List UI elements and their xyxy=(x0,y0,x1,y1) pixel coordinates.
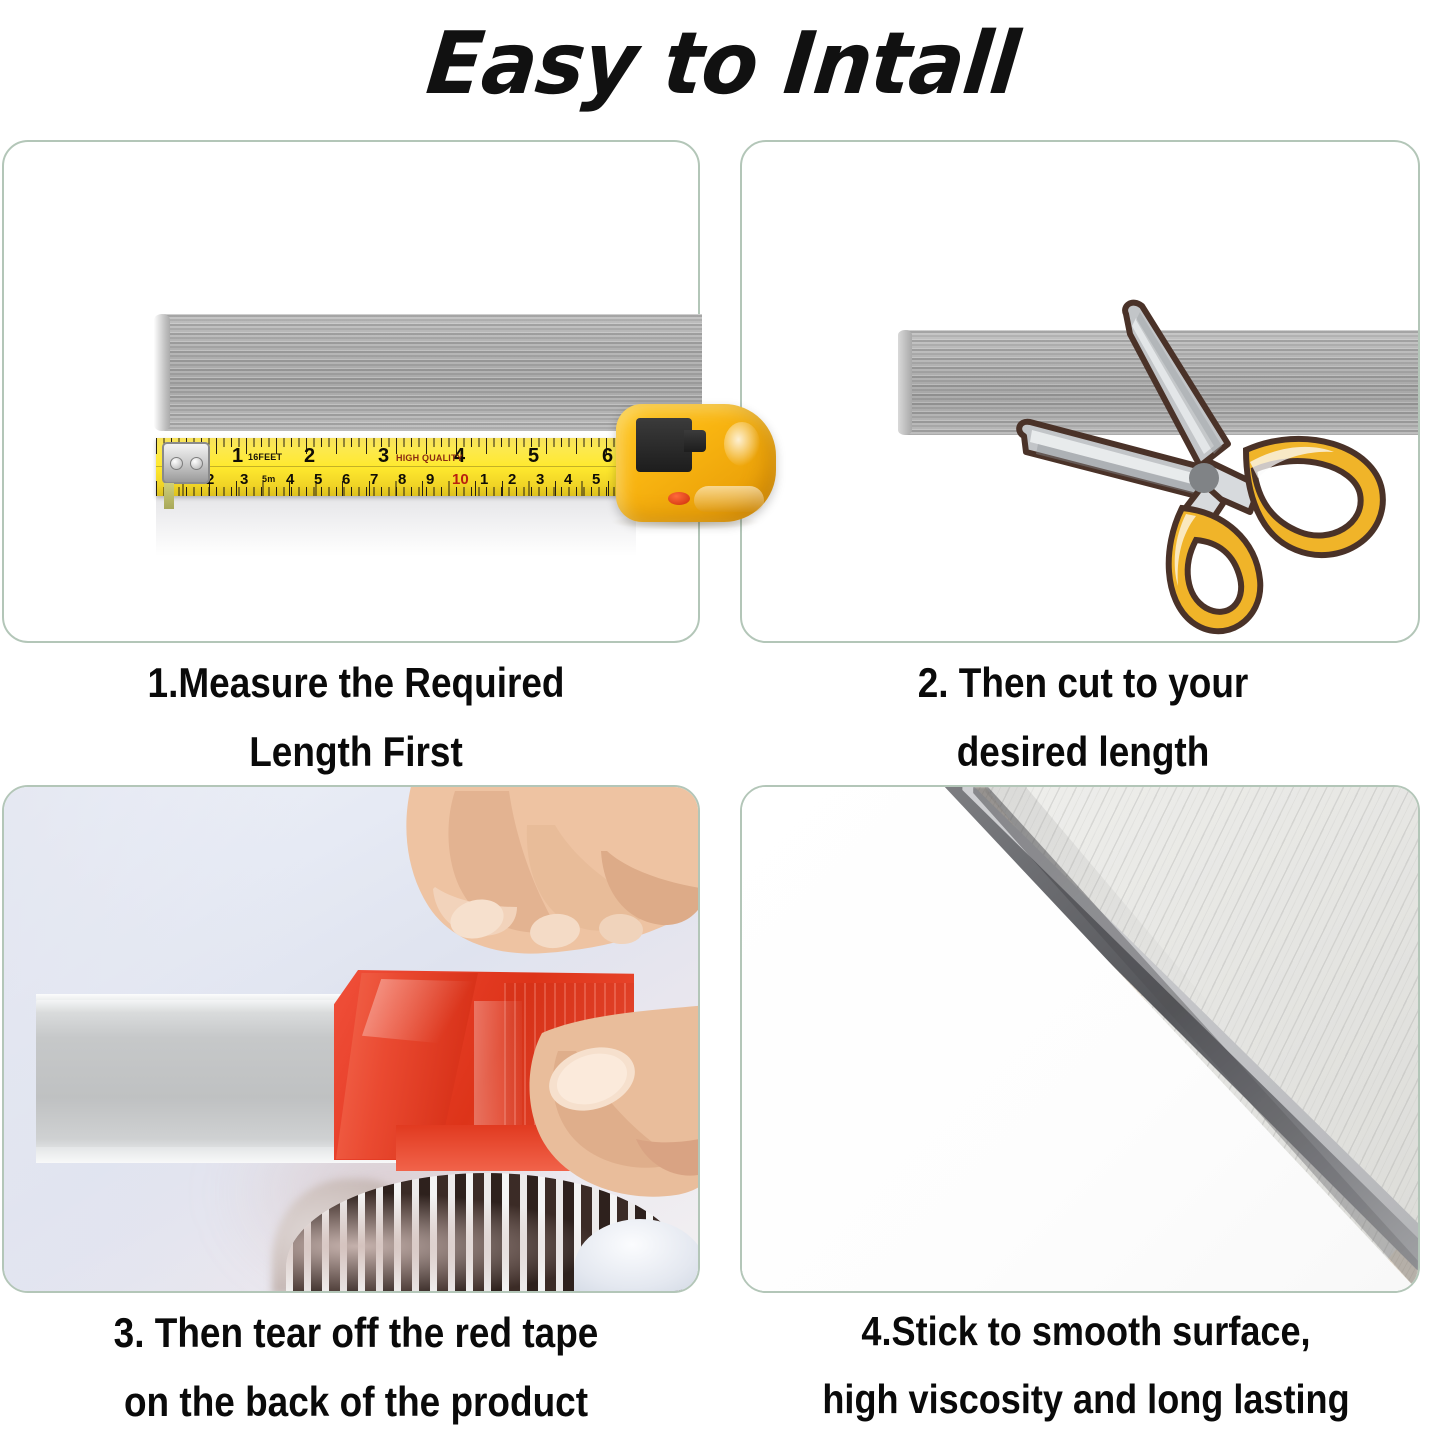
blade-divider-line xyxy=(156,466,636,467)
step-3-caption: 3. Then tear off the red tape on the bac… xyxy=(43,1298,670,1437)
caption-line: 3. Then tear off the red tape xyxy=(43,1298,670,1367)
caption-line: 1.Measure the Required xyxy=(43,648,670,717)
tape-case-window xyxy=(694,486,764,512)
tape-lock-button xyxy=(636,418,692,472)
case-gloss-highlight xyxy=(724,422,760,466)
step-4-caption: 4.Stick to smooth surface, high viscosit… xyxy=(775,1298,1396,1433)
tape-metric-mark: 3 xyxy=(240,472,248,487)
caption-line: desired length xyxy=(775,717,1391,786)
tape-metric-mark: 9 xyxy=(426,472,434,487)
caption-line: high viscosity and long lasting xyxy=(775,1366,1396,1434)
blade-major-ticks-top xyxy=(156,438,636,454)
caption-line: 4.Stick to smooth surface, xyxy=(775,1298,1396,1366)
surface-shadow xyxy=(156,496,636,556)
step-4-panel xyxy=(740,785,1420,1293)
tape-metric-mark: 5 xyxy=(314,472,322,487)
step-1-panel: 1 2 3 4 5 6 16FEET HIGH QUALITY 5m 2 3 4… xyxy=(2,140,700,643)
trim-strip-gray xyxy=(36,1000,376,1158)
step-2-caption: 2. Then cut to your desired length xyxy=(775,648,1391,787)
step-3-panel xyxy=(2,785,700,1293)
tape-measure-case xyxy=(616,404,776,522)
tape-metric-mark: 4 xyxy=(286,472,294,487)
scissors-icon xyxy=(1014,294,1414,642)
tape-inch-mark: 2 xyxy=(304,446,315,466)
tape-measure-hook-tab xyxy=(164,483,174,509)
tape-metric-mark: 5 xyxy=(592,472,600,487)
peel-tape-photo xyxy=(4,787,698,1291)
tape-inch-mark: 5 xyxy=(528,446,539,466)
tape-measure-blade: 1 2 3 4 5 6 16FEET HIGH QUALITY 5m 2 3 4… xyxy=(156,438,636,496)
tape-metric-mark: 4 xyxy=(564,472,572,487)
installed-trim-photo xyxy=(742,787,1418,1291)
tape-brand-text: 16FEET xyxy=(248,453,282,462)
tape-inch-mark: 1 xyxy=(232,446,243,466)
tape-metric-mark: 8 xyxy=(398,472,406,487)
tape-inch-mark: 6 xyxy=(602,446,613,466)
caption-line: 2. Then cut to your xyxy=(775,648,1391,717)
tape-metric-mark: 6 xyxy=(342,472,350,487)
page-header: Easy to Intall xyxy=(0,0,1445,128)
page-title: Easy to Intall xyxy=(422,14,1023,114)
tape-metric-text: 5m xyxy=(262,475,275,484)
tape-metric-mark-highlight: 10 xyxy=(452,472,469,487)
tape-quality-text: HIGH QUALITY xyxy=(396,454,463,463)
caption-line: Length First xyxy=(43,717,670,786)
tape-metric-mark: 3 xyxy=(536,472,544,487)
step-2-panel xyxy=(740,140,1420,643)
tape-inch-mark: 3 xyxy=(378,446,389,466)
step-1-caption: 1.Measure the Required Length First xyxy=(43,648,670,787)
tape-metric-mark: 7 xyxy=(370,472,378,487)
tape-release-button xyxy=(668,492,690,505)
tape-metric-mark: 2 xyxy=(508,472,516,487)
tape-measure-hook xyxy=(162,442,210,484)
caption-line: on the back of the product xyxy=(43,1367,670,1436)
tape-metric-mark: 1 xyxy=(480,472,488,487)
